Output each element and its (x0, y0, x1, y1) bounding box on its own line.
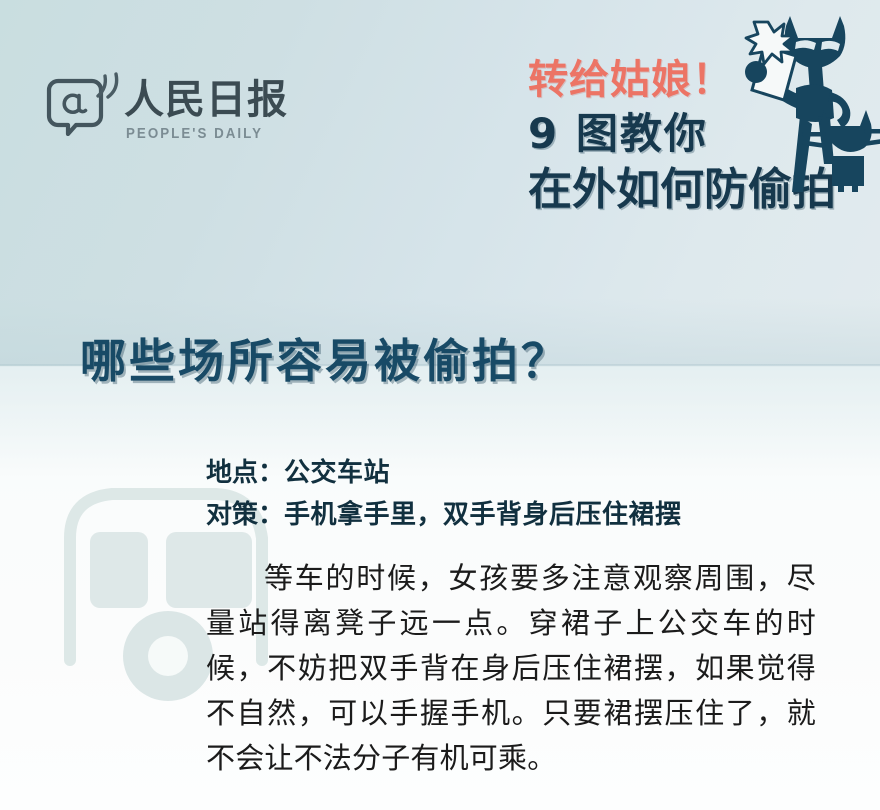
advice-value: 手机拿手里，双手背身后压住裙摆 (284, 500, 682, 530)
masked-photographer-and-cat-illustration (724, 14, 880, 204)
advice-line: 对策：手机拿手里，双手背身后压住裙摆 (206, 494, 816, 536)
poster-canvas: 人民日报 PEOPLE'S DAILY 转给姑娘！ 9 图教你 在外如何防偷拍 (0, 0, 880, 810)
advice-body-text: 等车的时候，女孩要多注意观察周围，尽量站得离凳子远一点。穿裙子上公交车的时候，不… (206, 556, 816, 781)
location-line: 地点：公交车站 (206, 452, 816, 494)
section-title: 哪些场所容易被偷拍？ (80, 325, 570, 391)
wifi-waves-icon (90, 72, 124, 102)
logo-name-cn: 人民日报 (124, 78, 288, 122)
location-value: 公交车站 (284, 458, 390, 488)
location-label: 地点： (206, 458, 284, 488)
advice-card: 地点：公交车站 对策：手机拿手里，双手背身后压住裙摆 等车的时候，女孩要多注意观… (206, 452, 816, 781)
logo-name-en: PEOPLE'S DAILY (126, 126, 263, 142)
peoples-daily-logo: 人民日报 PEOPLE'S DAILY (46, 72, 261, 154)
advice-label: 对策： (206, 500, 284, 530)
